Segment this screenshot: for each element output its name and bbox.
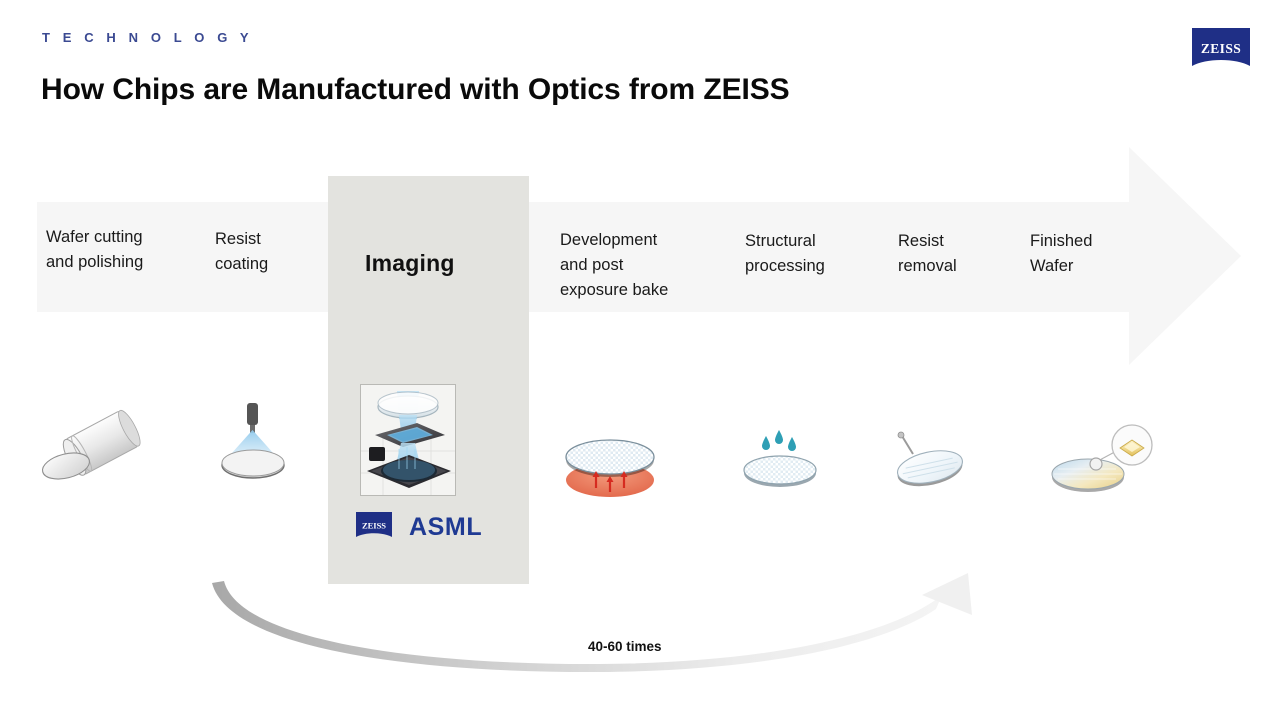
step-label-resist-removal: Resist removal xyxy=(898,229,1018,279)
step-label-development: Development and post exposure bake xyxy=(560,228,735,303)
step-label-structural-processing: Structural processing xyxy=(745,229,890,279)
resist-spray-icon xyxy=(210,393,296,488)
resist-strip-icon xyxy=(888,430,970,492)
imaging-partner-logos: ZEISS ASML xyxy=(356,512,516,548)
step-label-wafer-cutting: Wafer cutting and polishing xyxy=(46,225,196,275)
step-label-resist-coating: Resist coating xyxy=(215,227,325,277)
svg-text:ZEISS: ZEISS xyxy=(1201,41,1241,56)
finished-wafer-icon xyxy=(1048,422,1154,498)
asml-wordmark: ASML xyxy=(409,513,482,542)
loop-label: 40-60 times xyxy=(588,639,662,654)
page-title: How Chips are Manufactured with Optics f… xyxy=(41,73,790,107)
etch-droplets-icon xyxy=(738,428,822,490)
svg-text:ZEISS: ZEISS xyxy=(362,521,386,531)
zeiss-logo-small: ZEISS xyxy=(356,512,392,543)
silicon-ingot-icon xyxy=(40,405,155,490)
loop-arrow xyxy=(200,565,990,675)
step-label-imaging: Imaging xyxy=(365,250,455,277)
eyebrow-technology: T E C H N O L O G Y xyxy=(42,30,253,45)
lithography-illustration xyxy=(360,384,456,496)
step-label-finished-wafer: Finished Wafer xyxy=(1030,229,1150,279)
zeiss-logo: ZEISS xyxy=(1192,28,1250,74)
bake-wafer-icon xyxy=(558,424,662,498)
